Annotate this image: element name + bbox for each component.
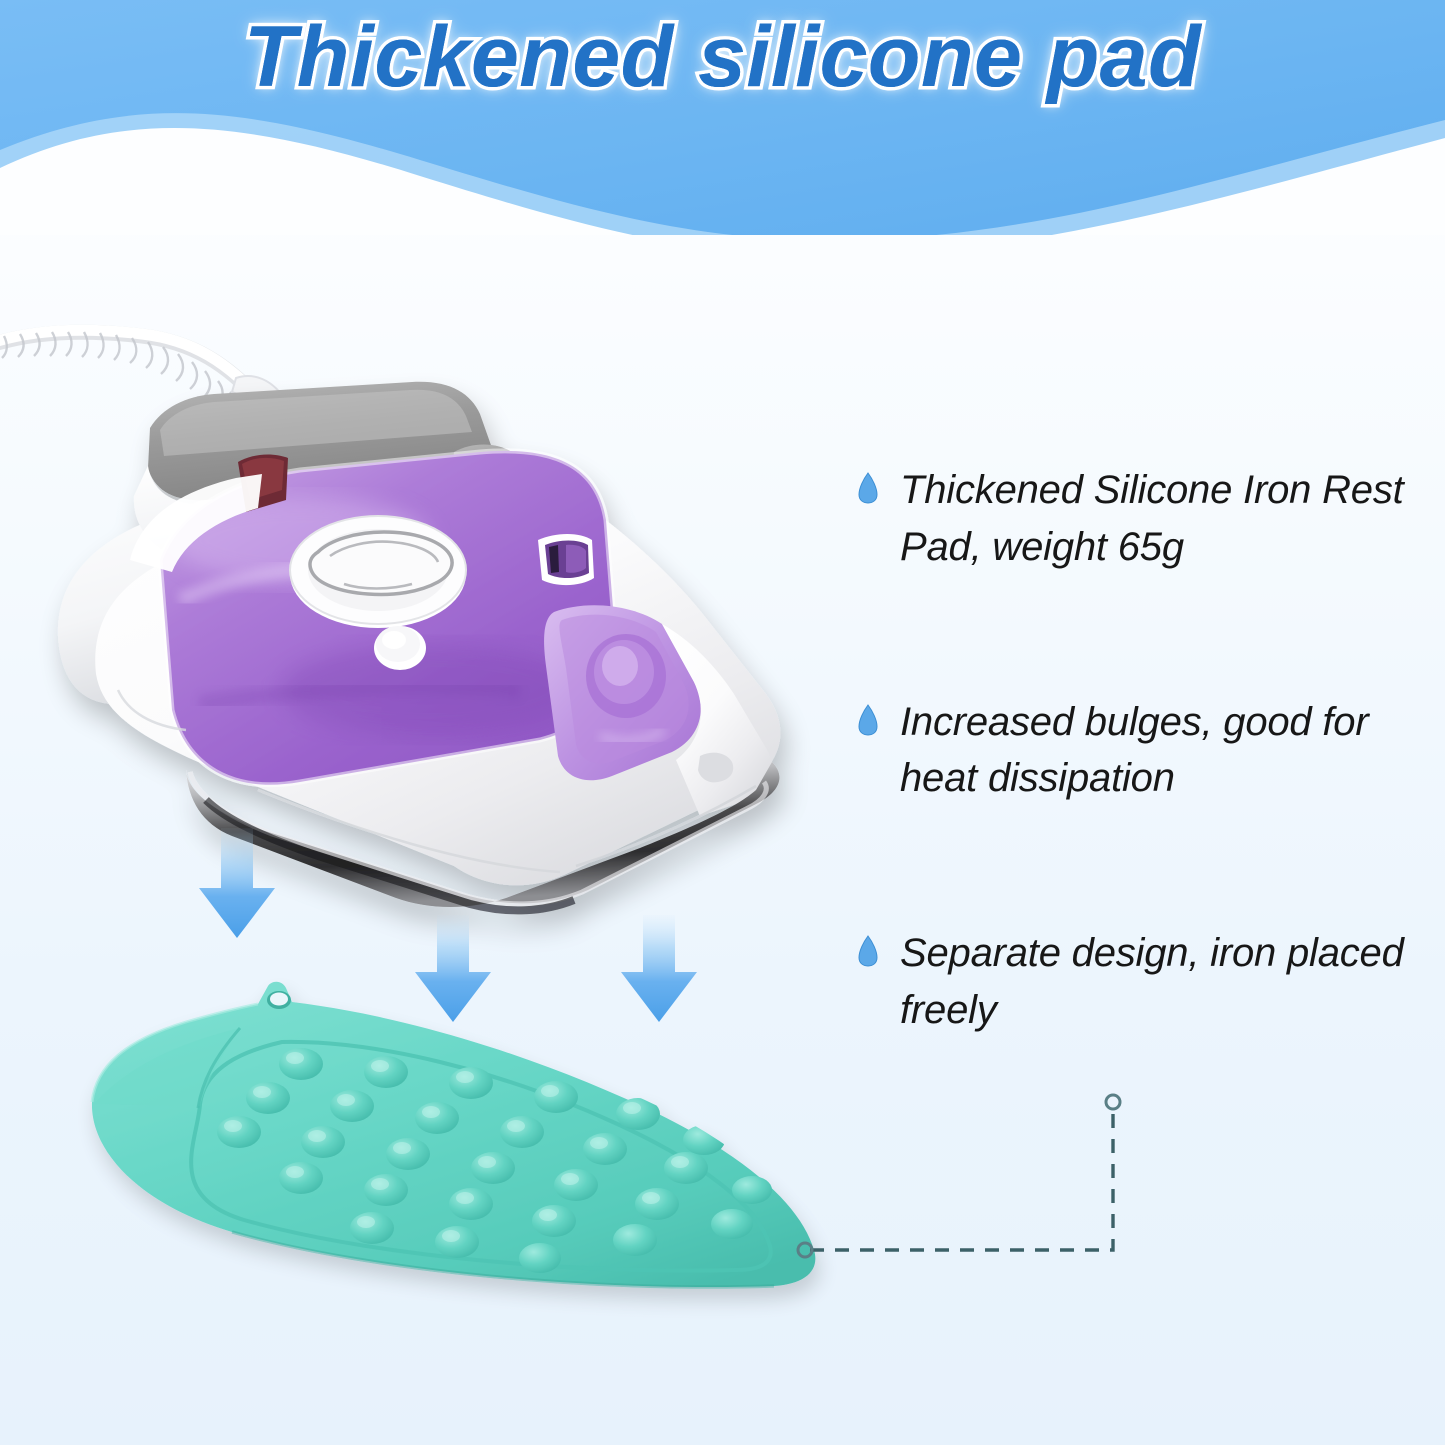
header-banner: Thickened silicone pad Thickened silicon… (0, 0, 1445, 235)
steam-iron (58, 382, 780, 911)
feature-text: Separate design, iron placed freely (900, 925, 1428, 1039)
list-item: Thickened Silicone Iron Rest Pad, weight… (858, 462, 1428, 576)
infographic-page: Thickened silicone pad Thickened silicon… (0, 0, 1445, 1445)
pad-bumps (217, 1048, 772, 1273)
power-cord (0, 330, 284, 424)
list-item: Separate design, iron placed freely (858, 925, 1428, 1039)
feature-list: Thickened Silicone Iron Rest Pad, weight… (858, 462, 1428, 1039)
dimension-leader-line (798, 1095, 1120, 1257)
feature-text: Thickened Silicone Iron Rest Pad, weight… (900, 462, 1428, 576)
page-title: Thickened silicone pad (0, 14, 1445, 100)
downward-arrow (621, 915, 697, 1022)
silicone-iron-rest-pad (92, 982, 815, 1287)
spray-button (374, 626, 426, 670)
steam-slider (538, 534, 594, 585)
downward-arrow (199, 828, 275, 938)
iron-bullet-icon (858, 704, 878, 736)
feature-text: Increased bulges, good for heat dissipat… (900, 694, 1428, 808)
iron-bullet-icon (858, 935, 878, 967)
temperature-dial (290, 516, 466, 628)
downward-arrows (199, 828, 697, 1022)
iron-bullet-icon (858, 472, 878, 504)
list-item: Increased bulges, good for heat dissipat… (858, 694, 1428, 808)
water-window (544, 605, 701, 780)
downward-arrow (415, 915, 491, 1022)
